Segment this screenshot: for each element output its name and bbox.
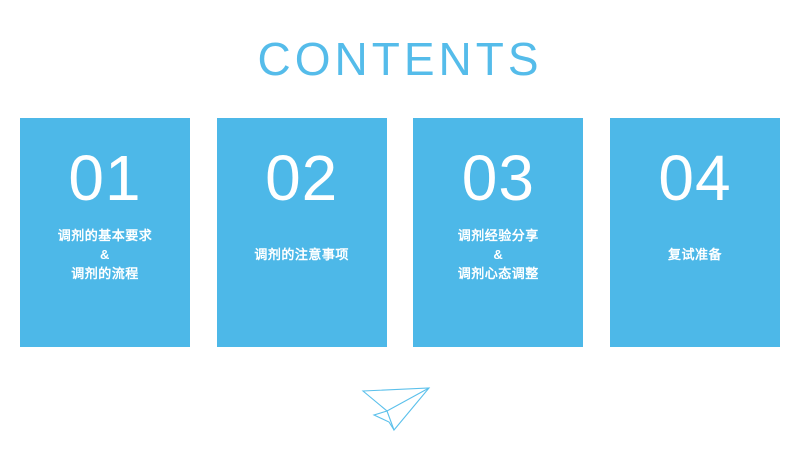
contents-card-04[interactable]: 04 复试准备: [610, 118, 780, 347]
caption-line: 复试准备: [612, 245, 778, 264]
caption-line: 调剂心态调整: [415, 264, 581, 283]
card-caption: 调剂经验分享 & 调剂心态调整: [415, 226, 581, 283]
card-number: 04: [658, 146, 731, 210]
caption-line: &: [415, 245, 581, 264]
caption-line: 调剂的流程: [22, 264, 188, 283]
contents-card-row: 01 调剂的基本要求 & 调剂的流程 02 调剂的注意事项 03 调剂经验分享 …: [20, 118, 780, 347]
card-number: 03: [462, 146, 535, 210]
contents-card-01[interactable]: 01 调剂的基本要求 & 调剂的流程: [20, 118, 190, 347]
card-caption: 调剂的注意事项: [219, 245, 385, 264]
card-number: 01: [68, 146, 141, 210]
card-caption: 复试准备: [612, 245, 778, 264]
page-title: CONTENTS: [0, 28, 800, 90]
caption-line: &: [22, 245, 188, 264]
caption-line: 调剂的注意事项: [219, 245, 385, 264]
contents-card-03[interactable]: 03 调剂经验分享 & 调剂心态调整: [413, 118, 583, 347]
caption-line: 调剂的基本要求: [22, 226, 188, 245]
caption-line: 调剂经验分享: [415, 226, 581, 245]
paper-plane-icon: [361, 382, 431, 434]
card-number: 02: [265, 146, 338, 210]
contents-slide: CONTENTS 01 调剂的基本要求 & 调剂的流程 02 调剂的注意事项 0…: [0, 0, 800, 450]
card-caption: 调剂的基本要求 & 调剂的流程: [22, 226, 188, 283]
contents-card-02[interactable]: 02 调剂的注意事项: [217, 118, 387, 347]
